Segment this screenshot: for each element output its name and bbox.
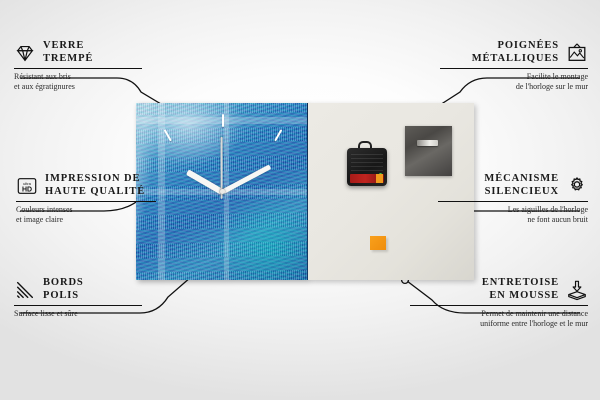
callout-title-line2: POLIS <box>43 290 79 301</box>
callout-title-line2: EN MOUSSE <box>489 290 559 301</box>
divider <box>440 68 588 69</box>
callout-sub-line2: et aux égratignures <box>14 82 75 91</box>
callout-title-line1: ENTRETOISE <box>482 277 559 288</box>
callout-impression-haute-qualite: ultra HD IMPRESSION DE HAUTE QUALITÉ Cou… <box>16 173 156 225</box>
callout-title-line1: MÉCANISME <box>484 173 559 184</box>
callout-entretoise-en-mousse: ENTRETOISE EN MOUSSE Permet de maintenir… <box>410 277 588 329</box>
callout-title-line1: VERRE <box>43 40 84 51</box>
gear-icon <box>566 175 588 197</box>
callout-poignees-metalliques: POIGNÉES MÉTALLIQUES Facilite le montage… <box>440 40 588 92</box>
clock-front-panel <box>136 103 308 280</box>
hour-hand <box>186 169 224 194</box>
callout-sub-line1: Facilite le montage <box>527 72 588 81</box>
diagonal-lines-icon <box>14 279 36 301</box>
divider <box>410 305 588 306</box>
callout-sub-line2: ne font aucun bruit <box>527 215 588 224</box>
callout-sub-line2: de l'horloge sur le mur <box>516 82 588 91</box>
callout-sub-line1: Couleurs intenses <box>16 205 73 214</box>
callout-sub-line1: Permet de maintenir une distance <box>481 309 588 318</box>
divider <box>16 201 156 202</box>
ultra-hd-icon: ultra HD <box>16 175 38 197</box>
callout-sub-line1: Résistant aux bris <box>14 72 71 81</box>
callout-sub-line1: Les aiguilles de l'horloge <box>508 205 588 214</box>
metal-hanger-plate <box>405 126 452 176</box>
svg-text:HD: HD <box>22 186 32 193</box>
callout-title-line1: BORDS <box>43 277 84 288</box>
product-photo <box>136 103 474 280</box>
svg-text:ultra: ultra <box>23 181 32 186</box>
callout-sub-line2: et image claire <box>16 215 63 224</box>
arrow-down-layers-icon <box>566 279 588 301</box>
divider <box>14 305 142 306</box>
callout-sub-line2: uniforme entre l'horloge et le mur <box>480 319 588 328</box>
callout-title-line2: HAUTE QUALITÉ <box>45 186 145 197</box>
diamond-icon <box>14 42 36 64</box>
callout-title-line2: MÉTALLIQUES <box>472 53 559 64</box>
callout-verre-trempe: VERRE TREMPÉ Résistant aux bris et aux é… <box>14 40 142 92</box>
callout-sub-line1: Surface lisse et sûre <box>14 309 78 318</box>
foam-spacer <box>370 236 386 250</box>
callout-bords-polis: BORDS POLIS Surface lisse et sûre <box>14 277 142 319</box>
divider <box>14 68 142 69</box>
minute-hand <box>221 164 271 194</box>
callout-title-line1: IMPRESSION DE <box>45 173 140 184</box>
divider <box>438 201 588 202</box>
clock-mechanism <box>347 148 387 186</box>
callout-title-line2: SILENCIEUX <box>485 186 559 197</box>
clock-hands <box>136 103 308 280</box>
battery <box>350 174 384 183</box>
clock-center-cap <box>220 189 225 194</box>
infographic-canvas: VERRE TREMPÉ Résistant aux bris et aux é… <box>0 0 600 400</box>
picture-frame-icon <box>566 42 588 64</box>
callout-mecanisme-silencieux: MÉCANISME SILENCIEUX Les aiguilles de l'… <box>438 173 588 225</box>
callout-title-line2: TREMPÉ <box>43 53 93 64</box>
callout-title-line1: POIGNÉES <box>498 40 559 51</box>
